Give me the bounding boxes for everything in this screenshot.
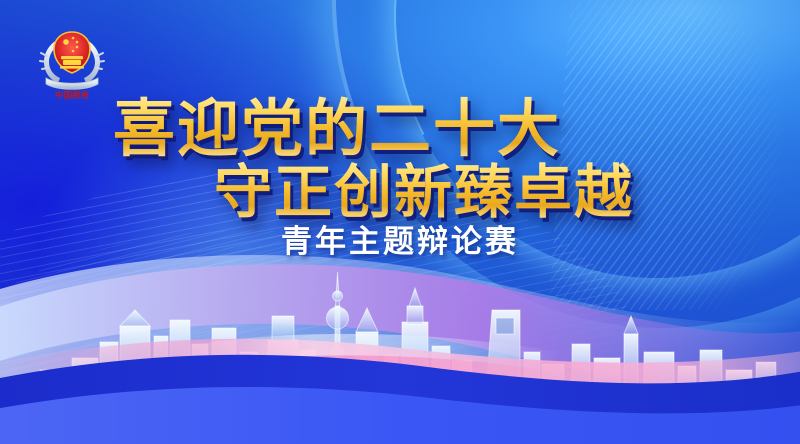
gate-icon [60,56,84,69]
china-taxation-emblem: 中国税务 [36,22,108,100]
emblem-caption: 中国税务 [55,90,90,100]
poster-banner: 中国税务 喜迎党的二十大 守正创新臻卓越 青年主题辩论赛 2022年9月 [0,0,800,444]
ribbon-waves-foreground [0,214,800,444]
emblem-graphic: 中国税务 [36,22,108,100]
